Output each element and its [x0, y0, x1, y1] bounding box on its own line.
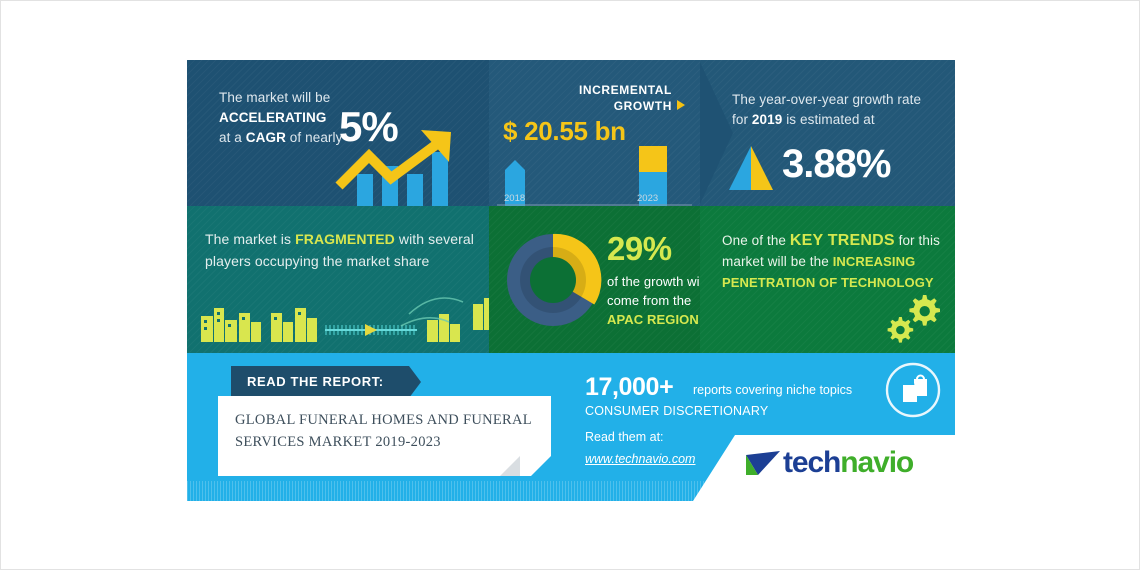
report-category: CONSUMER DISCRETIONARY [585, 404, 768, 418]
gears-icon [879, 291, 943, 347]
apac-value: 29% [607, 230, 672, 268]
infographic-board: The market will be ACCELERATING at a CAG… [187, 60, 955, 501]
play-triangle-icon [677, 100, 685, 110]
incremental-growth-title: INCREMENTAL GROWTH [489, 82, 672, 114]
market-players-icon [187, 280, 489, 353]
year-label-end: 2023 [637, 193, 658, 204]
up-triangle-icon [728, 146, 774, 190]
reports-count: 17,000+ [585, 373, 673, 402]
yoy-line2-post: is estimated at [782, 112, 874, 127]
cagr-line2-pre: at a [219, 130, 246, 145]
fragmented-description: The market is FRAGMENTED with several pl… [205, 228, 475, 272]
trends-line2-pre: market will be the [722, 254, 833, 269]
logo-text-tech: tech [783, 446, 840, 479]
incremental-title-line1: INCREMENTAL [579, 83, 672, 97]
cagr-text-bold: ACCELERATING [219, 110, 326, 125]
year-label-start: 2018 [504, 193, 525, 204]
key-trends-description: One of the KEY TRENDS for this market wi… [722, 230, 942, 293]
fragmented-text-highlight: FRAGMENTED [295, 231, 395, 247]
cagr-line2-post: of nearly [286, 130, 343, 145]
read-the-report-ribbon: READ THE REPORT: [231, 366, 421, 398]
trends-text-post: for this [895, 233, 940, 248]
incremental-growth-value: $ 20.55 bn [503, 116, 626, 147]
yoy-line2-pre: for [732, 112, 752, 127]
read-the-report-label: READ THE REPORT: [247, 374, 384, 389]
fragmented-market-panel: The market is FRAGMENTED with several pl… [187, 206, 489, 353]
trends-line3-bold: PENETRATION OF TECHNOLOGY [722, 275, 934, 290]
technavio-logo-text: technavio [783, 446, 913, 480]
trends-text-pre: One of the [722, 233, 790, 248]
shopping-bags-icon [884, 361, 942, 419]
incremental-title-line2: GROWTH [614, 99, 672, 113]
cagr-line2-bold: CAGR [246, 130, 286, 145]
reports-count-subtext: reports covering niche topics [693, 383, 852, 397]
report-footer-bar: READ THE REPORT: GLOBAL FUNERAL HOMES AN… [187, 353, 955, 501]
apac-line2: come from the [607, 293, 691, 308]
apac-description: of the growth will come from the APAC RE… [607, 272, 700, 329]
apac-region-label: APAC REGION [607, 312, 699, 327]
key-trends-panel: One of the KEY TRENDS for this market wi… [700, 206, 955, 353]
fragmented-text-post: with several [395, 231, 474, 247]
trends-highlight: KEY TRENDS [790, 232, 895, 249]
apac-line1: of the growth will [607, 274, 700, 289]
growth-chart-icon [335, 130, 485, 206]
yoy-value: 3.88% [782, 142, 890, 187]
read-them-at-label: Read them at: [585, 430, 664, 444]
trends-line2-bold: INCREASING [833, 254, 916, 269]
infographic-frame: The market will be ACCELERATING at a CAG… [0, 0, 1140, 570]
yoy-line2-bold: 2019 [752, 112, 782, 127]
incremental-growth-panel: INCREMENTAL GROWTH $ 20.55 bn 2018 2023 [489, 60, 700, 206]
cagr-text-pre: The market will be [219, 90, 330, 105]
yoy-text-pre: The year-over-year growth rate [732, 92, 921, 107]
yoy-growth-panel: The year-over-year growth rate for 2019 … [700, 60, 955, 206]
report-title-text: GLOBAL FUNERAL HOMES AND FUNERAL SERVICE… [235, 409, 535, 453]
apac-growth-panel: 29% of the growth will come from the APA… [489, 206, 700, 353]
fragmented-text-pre: The market is [205, 231, 295, 247]
cagr-panel: The market will be ACCELERATING at a CAG… [187, 60, 489, 206]
website-url-link[interactable]: www.technavio.com [585, 452, 695, 466]
apac-donut-chart [499, 226, 607, 334]
logo-text-navio: navio [840, 446, 913, 479]
yoy-description: The year-over-year growth rate for 2019 … [732, 90, 942, 130]
fragmented-text-line2: players occupying the market share [205, 253, 429, 269]
